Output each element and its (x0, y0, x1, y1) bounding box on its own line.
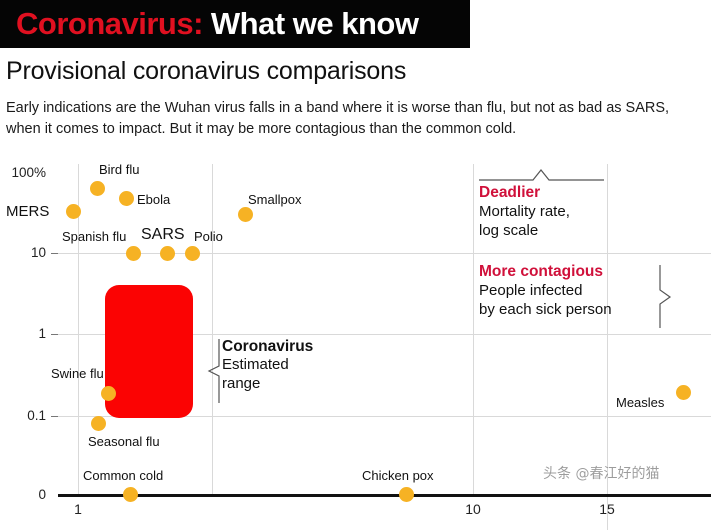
annotation-contagious-line2: by each sick person (479, 301, 612, 320)
x-axis-line (58, 494, 711, 497)
data-point-seasonal-flu[interactable] (91, 416, 106, 431)
header-banner: Coronavirus: What we know (0, 0, 470, 48)
scatter-chart: 100% 10 1 0.1 0 1 10 15 MERS Bird flu Eb… (0, 150, 711, 516)
data-point-bird-flu[interactable] (90, 181, 105, 196)
data-point-sars[interactable] (160, 246, 175, 261)
data-label-chicken-pox: Chicken pox (362, 468, 434, 483)
annotation-contagious-title: More contagious (479, 263, 612, 281)
annotation-deadlier-line1: Mortality rate, (479, 203, 570, 222)
y-tick-label-100: 100% (0, 165, 46, 180)
data-label-swine-flu-text: Swine flu (51, 366, 104, 381)
data-point-measles[interactable] (676, 385, 691, 400)
data-point-common-cold[interactable] (123, 487, 138, 502)
gridline-v-10 (473, 164, 474, 495)
gridline-v-5 (212, 164, 213, 495)
annotation-contagious: More contagious People infected by each … (479, 263, 612, 319)
annotation-coronavirus-line2: range (222, 375, 313, 394)
data-label-mers: MERS (6, 203, 49, 220)
y-tick-mark-10 (51, 253, 58, 254)
data-point-smallpox[interactable] (238, 207, 253, 222)
y-tick-label-1: 1 (0, 326, 46, 341)
annotation-coronavirus-line1: Estimated (222, 356, 313, 375)
gridline-h-10 (58, 253, 711, 254)
watermark: 头条 @春江好的猫 (543, 463, 659, 483)
data-label-bird-flu: Bird flu (99, 162, 139, 177)
annotation-coronavirus-title: Coronavirus (222, 338, 313, 356)
banner-title-red: Coronavirus: (16, 6, 203, 42)
y-tick-mark-1 (51, 334, 58, 335)
data-point-mers[interactable] (66, 204, 81, 219)
annotation-deadlier: Deadlier Mortality rate, log scale (479, 184, 570, 240)
contagious-arrow-icon (657, 264, 673, 330)
annotation-coronavirus: Coronavirus Estimated range (222, 338, 313, 393)
data-point-chicken-pox[interactable] (399, 487, 414, 502)
deadlier-arrow-icon (478, 168, 606, 182)
data-label-swine-flu: Swine flu (51, 366, 99, 381)
coronavirus-brace-icon (206, 338, 222, 404)
data-label-sars: SARS (141, 226, 185, 244)
data-point-ebola[interactable] (119, 191, 134, 206)
data-label-measles: Measles (616, 395, 664, 410)
annotation-deadlier-line2: log scale (479, 222, 570, 241)
data-label-polio: Polio (194, 229, 223, 244)
data-label-spanish-flu: Spanish flu (62, 229, 126, 244)
page-title: Provisional coronavirus comparisons (6, 57, 406, 86)
y-tick-label-0: 0 (0, 487, 46, 502)
x-tick-label-10: 10 (453, 501, 493, 517)
banner-title-white: What we know (211, 6, 419, 42)
y-tick-label-0-1: 0.1 (0, 408, 46, 423)
x-tick-label-1: 1 (58, 501, 98, 517)
annotation-contagious-line1: People infected (479, 282, 612, 301)
data-point-polio[interactable] (185, 246, 200, 261)
data-point-spanish-flu[interactable] (126, 246, 141, 261)
y-tick-mark-0-1 (51, 416, 58, 417)
data-label-common-cold: Common cold (83, 468, 163, 483)
standfirst-text: Early indications are the Wuhan virus fa… (6, 98, 706, 140)
coronavirus-range-box (105, 285, 193, 418)
data-label-seasonal-flu: Seasonal flu (88, 434, 160, 449)
annotation-deadlier-title: Deadlier (479, 184, 570, 202)
x-tick-label-15: 15 (587, 501, 627, 517)
y-tick-label-10: 10 (0, 245, 46, 260)
data-point-swine-flu[interactable] (101, 386, 116, 401)
data-label-ebola: Ebola (137, 192, 170, 207)
data-label-smallpox: Smallpox (248, 192, 301, 207)
